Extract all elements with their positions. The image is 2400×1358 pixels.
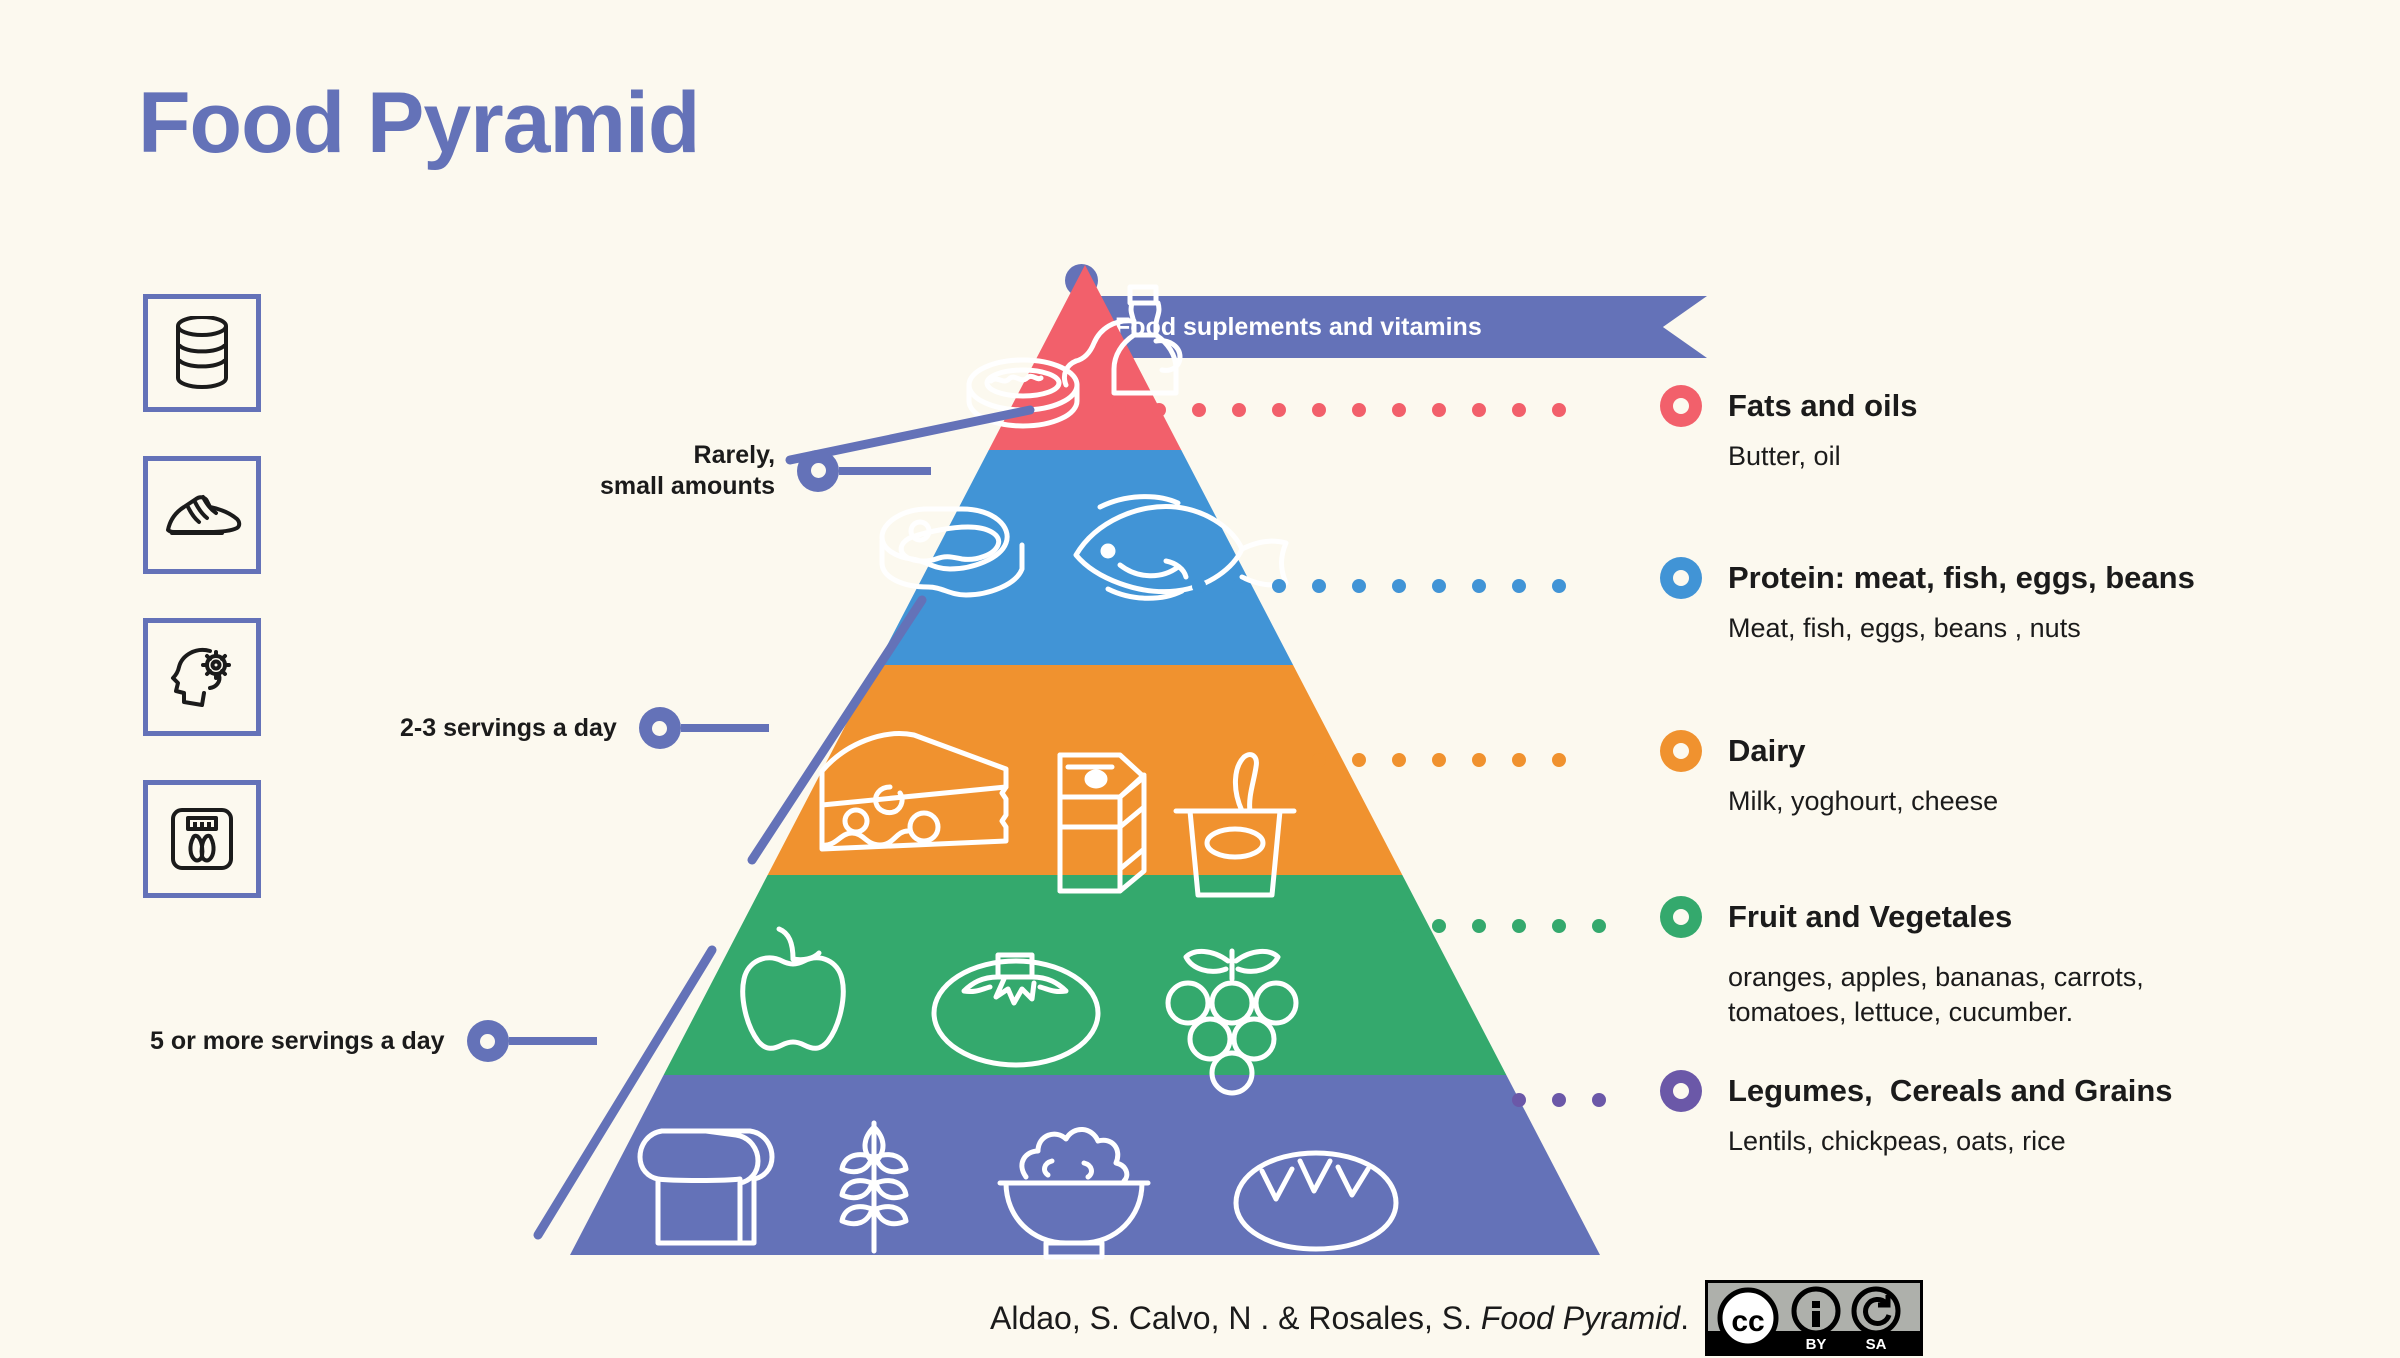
legend-title-fruit: Fruit and Vegetales: [1728, 899, 2012, 935]
leader-dots-protein: [1192, 578, 1652, 593]
legend-head-fruit: Fruit and Vegetales: [1660, 896, 2400, 938]
leader-dots-fruit: [1392, 918, 1652, 933]
callout-fats-label: Rarely, small amounts: [600, 440, 775, 501]
legend-title-dairy: Dairy: [1728, 733, 1806, 769]
legend-marker-fruit: [1660, 896, 1702, 938]
running-shoe-icon: [143, 456, 261, 574]
caption-period: .: [1680, 1300, 1689, 1337]
water-glass-icon: [143, 294, 261, 412]
callout-veg-label: 5 or more servings a day: [150, 1026, 445, 1057]
callout-fats: Rarely, small amounts: [600, 440, 931, 501]
legend-head-protein: Protein: meat, fish, eggs, beans: [1660, 557, 2400, 599]
callout-protein-stub: [681, 724, 769, 732]
legend-marker-protein: [1660, 557, 1702, 599]
leader-dots-grains: [1512, 1092, 1652, 1107]
caption-authors: Aldao, S. Calvo, N . & Rosales, S.: [990, 1300, 1481, 1337]
legend-title-protein: Protein: meat, fish, eggs, beans: [1728, 560, 2195, 596]
legend-title-grains: Legumes, Cereals and Grains: [1728, 1073, 2173, 1109]
legend-item-dairy: Dairy Milk, yoghourt, cheese: [1660, 730, 2400, 819]
callout-fats-stub: [839, 467, 931, 475]
svg-text:cc: cc: [1731, 1305, 1764, 1338]
caption-work-title: Food Pyramid: [1481, 1300, 1680, 1337]
callout-protein: 2-3 servings a day: [400, 707, 769, 749]
legend-item-protein: Protein: meat, fish, eggs, beans Meat, f…: [1660, 557, 2400, 646]
legend-item-fats: Fats and oils Butter, oil: [1660, 385, 2400, 474]
legend-head-fats: Fats and oils: [1660, 385, 2400, 427]
leader-dots-fats: [1112, 402, 1652, 417]
legend-head-dairy: Dairy: [1660, 730, 2400, 772]
svg-text:BY: BY: [1806, 1336, 1827, 1353]
legend-marker-grains: [1660, 1070, 1702, 1112]
legend-item-grains: Legumes, Cereals and Grains Lentils, chi…: [1660, 1070, 2400, 1159]
tier-band-fruit: [560, 875, 1610, 1075]
tier-band-dairy: [560, 665, 1610, 875]
infographic-canvas: Food Pyramid: [0, 0, 2400, 1350]
svg-text:SA: SA: [1866, 1336, 1887, 1353]
callout-veg-stub: [509, 1037, 597, 1045]
head-gear-icon: [143, 618, 261, 736]
leader-dots-dairy: [1312, 752, 1652, 767]
weighing-scale-icon: [143, 780, 261, 898]
callout-protein-label: 2-3 servings a day: [400, 713, 617, 744]
callout-fats-marker: [797, 450, 839, 492]
page-title: Food Pyramid: [138, 80, 699, 166]
legend-marker-fats: [1660, 385, 1702, 427]
legend-item-fruit: Fruit and Vegetales oranges, apples, ban…: [1660, 896, 2400, 1030]
legend-desc-fats: Butter, oil: [1728, 439, 2400, 474]
legend-desc-fruit: oranges, apples, bananas, carrots, tomat…: [1728, 960, 2400, 1030]
callout-protein-marker: [639, 707, 681, 749]
legend-head-grains: Legumes, Cereals and Grains: [1660, 1070, 2400, 1112]
legend-marker-dairy: [1660, 730, 1702, 772]
legend-desc-grains: Lentils, chickpeas, oats, rice: [1728, 1124, 2400, 1159]
tier-band-grains: [560, 1075, 1610, 1265]
lifestyle-icon-column: [143, 294, 265, 942]
legend-title-fats: Fats and oils: [1728, 388, 1917, 424]
tier-legend: Fats and oils Butter, oil Protein: meat,…: [1660, 0, 2400, 1350]
callout-veg-marker: [467, 1020, 509, 1062]
legend-desc-dairy: Milk, yoghourt, cheese: [1728, 784, 2400, 819]
callout-veg: 5 or more servings a day: [150, 1020, 597, 1062]
creative-commons-badge: cc BY SA: [1705, 1280, 1923, 1356]
tier-band-fats: [560, 255, 1610, 450]
caption: Aldao, S. Calvo, N . & Rosales, S. Food …: [990, 1280, 1923, 1356]
legend-desc-protein: Meat, fish, eggs, beans , nuts: [1728, 611, 2400, 646]
